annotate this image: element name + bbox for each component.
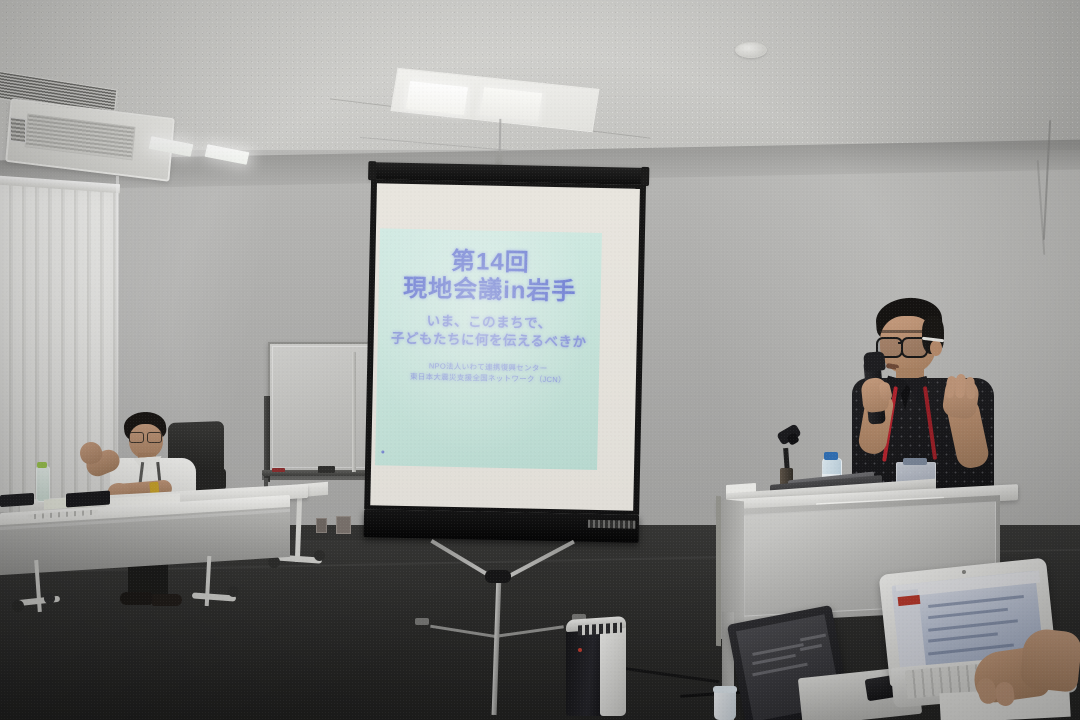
table-caster <box>44 593 55 604</box>
smoke-detector-icon <box>735 42 767 58</box>
glasses-icon <box>129 432 144 443</box>
water-bottle[interactable] <box>36 466 50 502</box>
presenter-brow <box>878 330 924 333</box>
slide-corner-mark <box>381 450 384 453</box>
bottle-cap[interactable] <box>37 462 47 468</box>
screen-bar-cap <box>368 161 376 180</box>
projector-glow <box>375 228 602 470</box>
screen-brand-label <box>588 520 636 529</box>
seated-person-shoe <box>120 592 152 605</box>
ac-vane <box>10 117 26 143</box>
power-led-indicator <box>578 648 582 652</box>
whiteboard-eraser[interactable] <box>318 466 335 473</box>
projection-screen[interactable]: 第14回 現地会議in岩手 いま、このまちで、 子どもたちに何を伝えるべきか N… <box>363 162 647 588</box>
bottle-cap[interactable] <box>824 452 838 460</box>
presenter-finger <box>965 377 976 400</box>
presenter-finger <box>955 374 966 399</box>
table-caster <box>12 600 24 612</box>
badge-clip <box>903 458 927 465</box>
ceiling-light <box>406 81 468 115</box>
podium-edge <box>716 496 721 646</box>
typing-hand <box>1019 627 1080 693</box>
glasses-bridge <box>898 342 903 344</box>
ceiling-light <box>480 87 542 121</box>
seated-person-shoe <box>152 594 182 606</box>
flipchart-bar <box>352 352 356 472</box>
conference-room-photo: 第14回 現地会議in岩手 いま、このまちで、 子どもたちに何を伝えるべきか N… <box>0 0 1080 720</box>
whiteboard-marker[interactable] <box>272 468 285 472</box>
dark-device[interactable] <box>0 493 34 507</box>
glasses-icon <box>147 432 162 443</box>
tripod-foot <box>415 618 429 625</box>
presenter-ear <box>930 340 942 356</box>
screen-bar-cap <box>641 167 649 186</box>
table-caster <box>228 586 239 597</box>
paper-cup[interactable] <box>714 690 736 720</box>
wall-outlet-icon[interactable] <box>316 518 327 533</box>
pa-amplifier-side <box>600 620 626 716</box>
table-caster <box>314 550 325 561</box>
cup-lid <box>713 686 737 693</box>
microphone-head-icon <box>863 351 886 372</box>
tripod-hub <box>485 570 511 583</box>
wall-outlet-icon[interactable] <box>336 516 351 534</box>
glasses-icon <box>901 337 928 358</box>
